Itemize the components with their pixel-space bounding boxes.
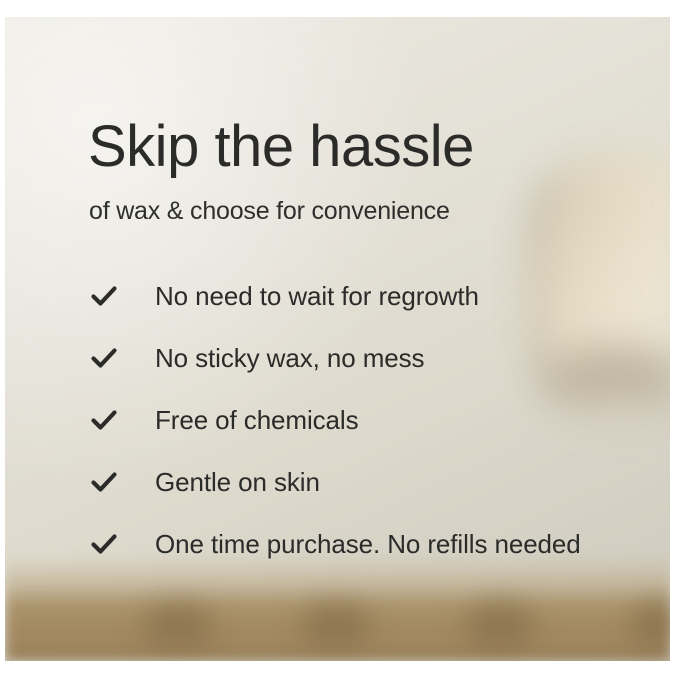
promo-poster: Skip the hassle of wax & choose for conv… (5, 17, 670, 661)
list-item-label: No need to wait for regrowth (155, 281, 479, 312)
poster-content: Skip the hassle of wax & choose for conv… (5, 17, 670, 661)
list-item-label: No sticky wax, no mess (155, 343, 424, 374)
check-icon (89, 281, 119, 311)
list-item: No sticky wax, no mess (89, 327, 649, 389)
page-title: Skip the hassle (88, 117, 474, 178)
list-item-label: Free of chemicals (155, 405, 358, 436)
check-icon (89, 467, 119, 497)
list-item: No need to wait for regrowth (89, 265, 649, 327)
list-item: One time purchase. No refills needed (89, 513, 649, 575)
list-item: Gentle on skin (89, 451, 649, 513)
benefit-list: No need to wait for regrowth No sticky w… (89, 265, 649, 575)
check-icon (89, 405, 119, 435)
list-item: Free of chemicals (89, 389, 649, 451)
list-item-label: Gentle on skin (155, 467, 320, 498)
check-icon (89, 343, 119, 373)
page-subtitle: of wax & choose for convenience (89, 197, 450, 226)
check-icon (89, 529, 119, 559)
list-item-label: One time purchase. No refills needed (155, 529, 581, 560)
